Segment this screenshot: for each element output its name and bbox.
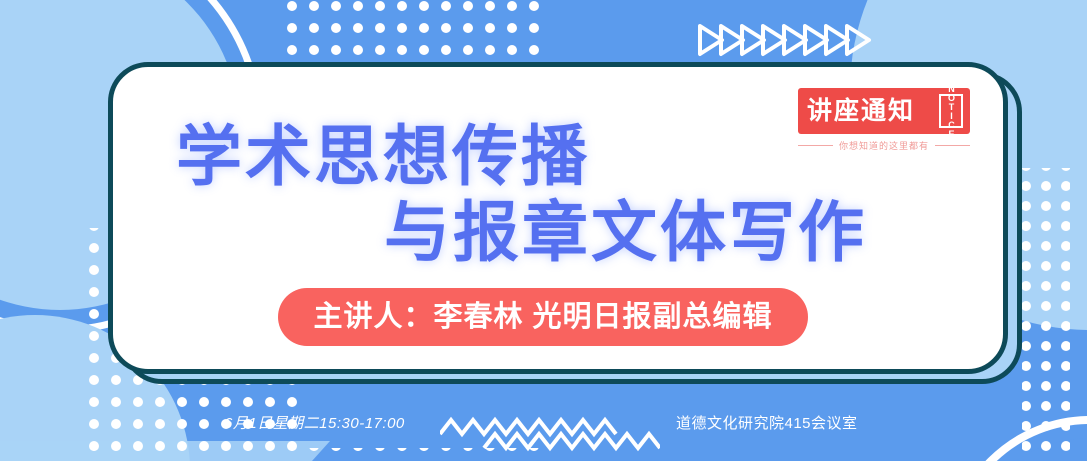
- speaker-label: 主讲人：李春林 光明日报副总编辑: [313, 303, 772, 332]
- dot-grid-icon: [1022, 168, 1070, 232]
- notice-badge: 讲座通知 NOTICE 你想知道的这里都有: [798, 88, 970, 150]
- poster-canvas: 讲座通知 NOTICE 你想知道的这里都有 学术思想传播 与报章文体写作 主讲人…: [0, 0, 1087, 461]
- title-line-1: 学术思想传播: [176, 124, 590, 190]
- badge-label: 讲座通知: [807, 99, 915, 124]
- footer-datetime: 6月1日星期二15:30-17:00: [224, 416, 405, 431]
- title-line-2: 与报章文体写作: [384, 200, 867, 266]
- badge-rule-left: [798, 145, 833, 146]
- zigzag-line-icon: [440, 412, 660, 456]
- footer-location: 道德文化研究院415会议室: [676, 416, 858, 431]
- speaker-pill: 主讲人：李春林 光明日报副总编辑: [278, 288, 808, 346]
- badge-tagline-row: 你想知道的这里都有: [798, 138, 970, 152]
- badge-rule-right: [935, 145, 970, 146]
- badge-vertical-label: NOTICE: [939, 94, 963, 128]
- badge-box: 讲座通知 NOTICE: [798, 88, 970, 134]
- dot-grid-icon: [280, 0, 548, 64]
- dot-grid-icon: [1022, 230, 1070, 461]
- badge-tagline: 你想知道的这里都有: [839, 139, 929, 152]
